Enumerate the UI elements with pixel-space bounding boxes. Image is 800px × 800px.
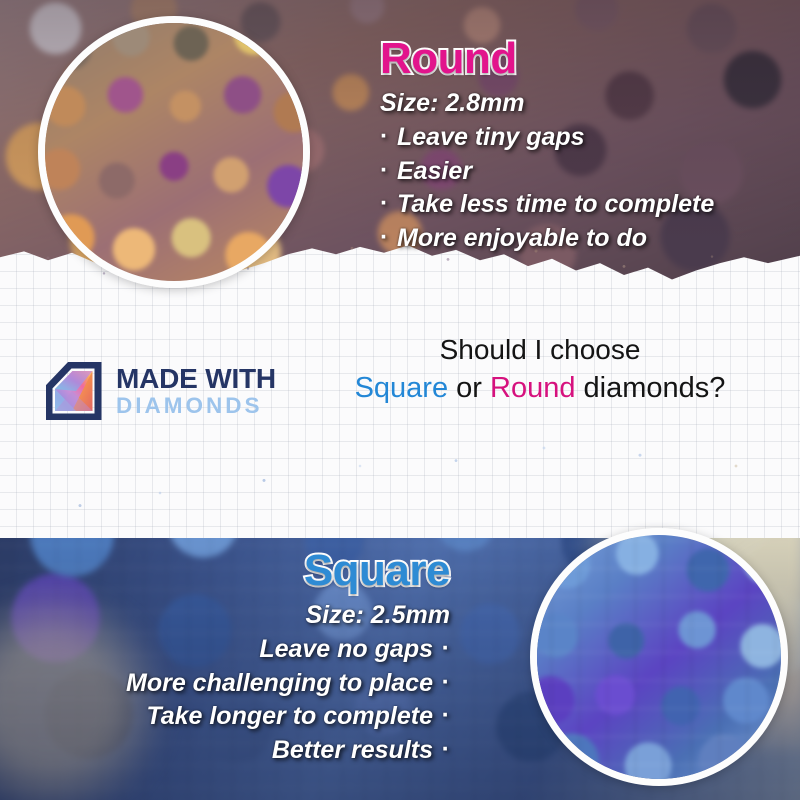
question-connector: or <box>448 372 490 404</box>
brand-logo[interactable]: MADE WITH DIAMONDS <box>46 362 276 420</box>
round-diamonds-inset-circle <box>38 16 310 288</box>
question-word-square: Square <box>355 372 449 404</box>
square-heading: Square <box>0 548 450 594</box>
infographic-canvas: Round Size: 2.8mm Leave tiny gaps Easier… <box>0 0 800 800</box>
diamond-prism-icon <box>46 362 104 420</box>
list-item: Easier <box>380 155 790 189</box>
round-text-block: Round Size: 2.8mm Leave tiny gaps Easier… <box>380 36 790 255</box>
square-text-block: Square Size: 2.5mm Leave no gaps More ch… <box>0 548 450 767</box>
headline-question: Should I choose Square or Round diamonds… <box>330 332 750 408</box>
brand-name-line1: MADE WITH <box>116 366 276 393</box>
round-size-line: Size: 2.8mm <box>380 87 790 121</box>
question-line-2: Square or Round diamonds? <box>330 370 750 408</box>
round-heading: Round <box>380 36 790 82</box>
brand-wordmark: MADE WITH DIAMONDS <box>116 366 276 416</box>
brand-name-line2: DIAMONDS <box>116 395 276 417</box>
list-item: Leave no gaps <box>0 633 450 667</box>
square-size-line: Size: 2.5mm <box>0 599 450 633</box>
question-tail: diamonds? <box>575 372 725 404</box>
square-diamonds-inset-circle <box>530 528 788 786</box>
question-word-round: Round <box>490 372 575 404</box>
list-item: More enjoyable to do <box>380 222 790 256</box>
list-item: Take less time to complete <box>380 188 790 222</box>
square-bullet-list: Leave no gaps More challenging to place … <box>0 633 450 767</box>
list-item: Leave tiny gaps <box>380 121 790 155</box>
round-bullet-list: Leave tiny gaps Easier Take less time to… <box>380 121 790 255</box>
list-item: Take longer to complete <box>0 700 450 734</box>
list-item: More challenging to place <box>0 667 450 701</box>
question-line-1: Should I choose <box>330 332 750 368</box>
list-item: Better results <box>0 734 450 768</box>
